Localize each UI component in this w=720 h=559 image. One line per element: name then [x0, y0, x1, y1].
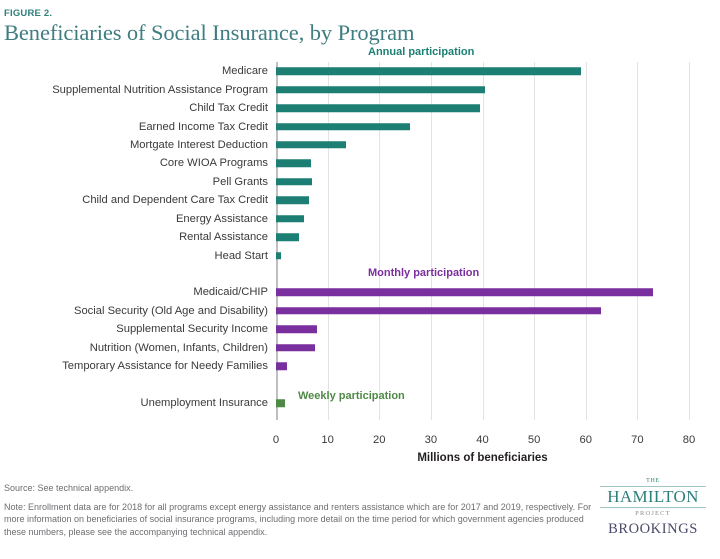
bar[interactable] — [276, 289, 653, 297]
gridline — [689, 62, 690, 420]
category-label: Medicare — [222, 65, 268, 77]
x-tick-label: 80 — [683, 434, 695, 446]
plot-area: MedicareSupplemental Nutrition Assistanc… — [276, 56, 689, 434]
bar-row: Medicare — [276, 62, 689, 80]
logo-brookings: BROOKINGS — [594, 520, 712, 538]
bar-row: Social Security (Old Age and Disability) — [276, 302, 689, 320]
bar-row: Supplemental Nutrition Assistance Progra… — [276, 80, 689, 98]
group-header-annual: Annual participation — [368, 46, 474, 58]
page-title: Beneficiaries of Social Insurance, by Pr… — [4, 20, 414, 46]
category-label: Temporary Assistance for Needy Families — [62, 360, 268, 372]
logo-project: PROJECT — [594, 509, 712, 518]
category-label: Nutrition (Women, Infants, Children) — [90, 342, 268, 354]
bar[interactable] — [276, 104, 480, 112]
x-tick-label: 10 — [321, 434, 333, 446]
bar[interactable] — [276, 123, 410, 131]
bar[interactable] — [276, 362, 287, 370]
bar-row: Temporary Assistance for Needy Families — [276, 357, 689, 375]
x-tick-label: 50 — [528, 434, 540, 446]
bar[interactable] — [276, 233, 299, 241]
x-axis-ticks: 01020304050607080 — [276, 434, 689, 450]
category-label: Mortgate Interest Deduction — [130, 139, 268, 151]
source-text: Source: See technical appendix. — [4, 482, 594, 495]
bar-chart: MedicareSupplemental Nutrition Assistanc… — [0, 56, 720, 456]
figure-number: FIGURE 2. — [4, 8, 52, 19]
group-header-weekly: Weekly participation — [298, 390, 405, 402]
bar[interactable] — [276, 399, 285, 407]
x-tick-label: 20 — [373, 434, 385, 446]
bar[interactable] — [276, 86, 485, 94]
bar-row: Rental Assistance — [276, 228, 689, 246]
bar[interactable] — [276, 197, 309, 205]
category-label: Child and Dependent Care Tax Credit — [82, 194, 268, 206]
bar-row: Mortgate Interest Deduction — [276, 136, 689, 154]
category-label: Supplemental Security Income — [116, 323, 268, 335]
note-text: Note: Enrollment data are for 2018 for a… — [4, 501, 594, 539]
category-label: Social Security (Old Age and Disability) — [74, 305, 268, 317]
bar[interactable] — [276, 160, 311, 168]
x-axis-label: Millions of beneficiaries — [276, 452, 689, 464]
footer: Source: See technical appendix. Note: En… — [4, 482, 594, 538]
bar[interactable] — [276, 326, 317, 334]
x-tick-label: 0 — [273, 434, 279, 446]
group-header-monthly: Monthly participation — [368, 267, 479, 279]
category-label: Supplemental Nutrition Assistance Progra… — [52, 84, 268, 96]
x-tick-label: 70 — [631, 434, 643, 446]
logo-hamilton: HAMILTON — [594, 488, 712, 506]
bar[interactable] — [276, 344, 315, 352]
row-spacer — [276, 265, 689, 283]
logo-rule-bottom — [600, 507, 706, 508]
bar-rows: MedicareSupplemental Nutrition Assistanc… — [276, 62, 689, 412]
category-label: Core WIOA Programs — [160, 157, 268, 169]
category-label: Energy Assistance — [176, 213, 268, 225]
category-label: Pell Grants — [213, 176, 268, 188]
bar-row: Pell Grants — [276, 173, 689, 191]
bar[interactable] — [276, 67, 581, 75]
bar[interactable] — [276, 252, 281, 260]
bar[interactable] — [276, 178, 312, 186]
bar[interactable] — [276, 215, 304, 223]
x-tick-label: 30 — [425, 434, 437, 446]
category-label: Child Tax Credit — [189, 102, 268, 114]
bar[interactable] — [276, 307, 601, 315]
bar-row: Head Start — [276, 246, 689, 264]
bar[interactable] — [276, 141, 346, 149]
bar-row: Core WIOA Programs — [276, 154, 689, 172]
category-label: Medicaid/CHIP — [193, 286, 268, 298]
bar-row: Supplemental Security Income — [276, 320, 689, 338]
bar-row: Medicaid/CHIP — [276, 283, 689, 301]
bar-row: Energy Assistance — [276, 210, 689, 228]
x-tick-label: 60 — [580, 434, 592, 446]
x-tick-label: 40 — [476, 434, 488, 446]
bar-row: Earned Income Tax Credit — [276, 117, 689, 135]
logo-the: THE — [594, 478, 712, 485]
bar-row: Nutrition (Women, Infants, Children) — [276, 339, 689, 357]
bar-row: Child and Dependent Care Tax Credit — [276, 191, 689, 209]
hamilton-project-logo: THE HAMILTON PROJECT BROOKINGS — [594, 478, 712, 538]
category-label: Earned Income Tax Credit — [139, 121, 268, 133]
category-label: Unemployment Insurance — [141, 397, 268, 409]
category-label: Head Start — [215, 250, 268, 262]
bar-row: Child Tax Credit — [276, 99, 689, 117]
category-label: Rental Assistance — [179, 231, 268, 243]
